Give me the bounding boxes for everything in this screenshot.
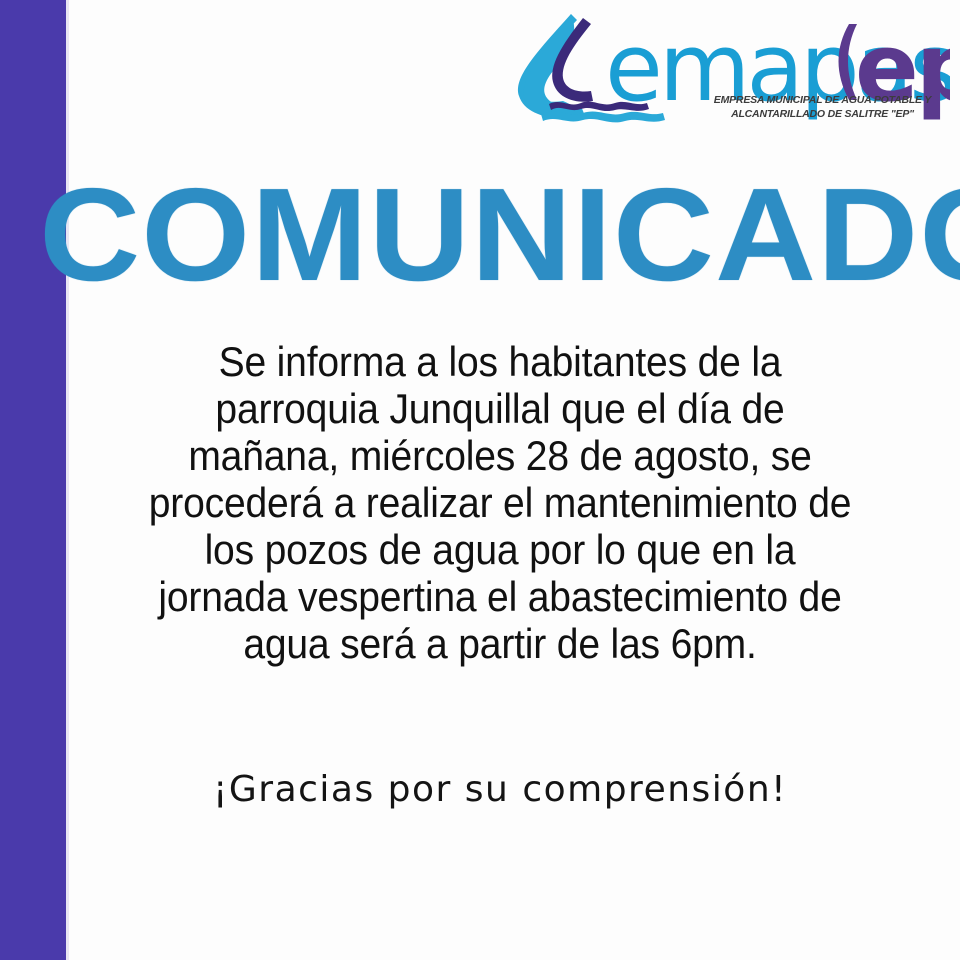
left-accent-bar [0, 0, 66, 960]
left-accent-bar-edge [66, 0, 69, 960]
announcement-line: agua será a partir de las 6pm. [100, 620, 900, 667]
announcement-line: Se informa a los habitantes de la [100, 338, 900, 385]
logo-tagline: EMPRESA MUNICIPAL DE AGUA POTABLE Y ALCA… [710, 94, 935, 121]
announcement-line: los pozos de agua por lo que en la [100, 526, 900, 573]
closing-message: ¡Gracias por su comprensión! [70, 768, 930, 812]
announcement-line: parroquia Junquillal que el día de [100, 385, 900, 432]
announcement-body: Se informa a los habitantes de la parroq… [100, 338, 900, 667]
page-title: COMUNICADO [39, 176, 960, 294]
announcement-line: jornada vespertina el abastecimiento de [100, 573, 900, 620]
emapas-ep-logo: emapas ep EMPRESA MUNICIPAL DE AGUA POTA… [505, 8, 950, 130]
announcement-line: mañana, miércoles 28 de agosto, se [100, 432, 900, 479]
announcement-line: procederá a realizar el mantenimiento de [100, 479, 900, 526]
comunicado-poster: emapas ep EMPRESA MUNICIPAL DE AGUA POTA… [0, 0, 960, 960]
